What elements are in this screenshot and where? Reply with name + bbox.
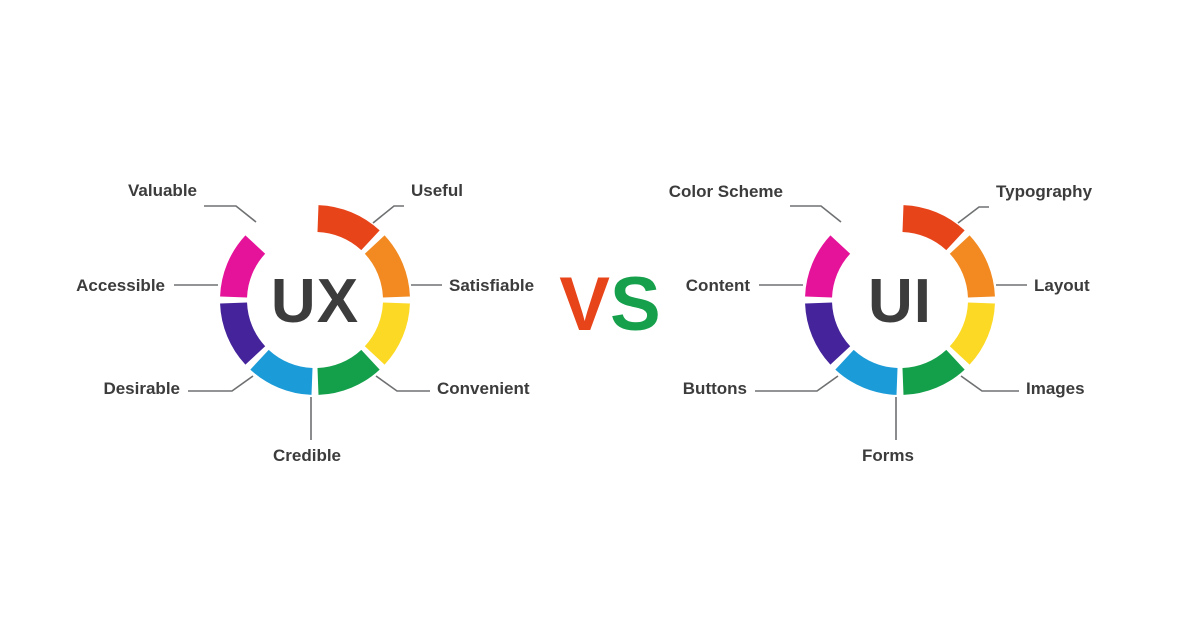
donut-segment-buttons[interactable]: [835, 350, 897, 395]
donut-center-label-ux: UX: [271, 267, 359, 336]
donut-segment-typography[interactable]: [902, 205, 964, 250]
segment-label-forms: Forms: [862, 446, 914, 465]
donut-chart-ux: UsefulSatisfiableConvenientCredibleDesir…: [76, 181, 534, 465]
ux-vs-ui-diagram: UsefulSatisfiableConvenientCredibleDesir…: [0, 0, 1200, 628]
donut-segment-useful[interactable]: [317, 205, 379, 250]
leader-line-desirable: [188, 376, 253, 391]
versus-letter-v: V: [559, 262, 610, 347]
segment-label-images: Images: [1026, 379, 1085, 398]
segment-label-valuable: Valuable: [128, 181, 197, 200]
leader-line-valuable: [204, 206, 256, 222]
segment-label-content: Content: [686, 276, 751, 295]
leader-line-color-scheme: [790, 206, 841, 222]
donut-segment-content[interactable]: [805, 302, 850, 364]
donut-segment-satisfiable[interactable]: [365, 235, 410, 297]
leader-line-typography: [958, 207, 989, 223]
donut-segment-accessible[interactable]: [220, 302, 265, 364]
donut-segment-forms[interactable]: [902, 350, 964, 395]
segment-label-accessible: Accessible: [76, 276, 165, 295]
donut-segment-valuable[interactable]: [220, 235, 265, 297]
segment-label-desirable: Desirable: [103, 379, 180, 398]
donut-segment-color-scheme[interactable]: [805, 235, 850, 297]
donut-segment-layout[interactable]: [950, 235, 995, 297]
versus-text: VS: [559, 262, 660, 347]
segment-label-useful: Useful: [411, 181, 463, 200]
segment-label-color-scheme: Color Scheme: [669, 182, 783, 201]
segment-label-convenient: Convenient: [437, 379, 530, 398]
leader-line-images: [961, 376, 1019, 391]
leader-line-useful: [373, 206, 404, 223]
segment-label-buttons: Buttons: [683, 379, 747, 398]
donut-segment-desirable[interactable]: [250, 350, 312, 395]
segment-label-typography: Typography: [996, 182, 1093, 201]
leader-line-convenient: [376, 376, 430, 391]
donut-segment-credible[interactable]: [317, 350, 379, 395]
infographic-canvas: UsefulSatisfiableConvenientCredibleDesir…: [0, 0, 1200, 628]
segment-label-credible: Credible: [273, 446, 341, 465]
versus-group: VS: [559, 262, 660, 347]
segment-label-layout: Layout: [1034, 276, 1090, 295]
donut-segment-convenient[interactable]: [365, 302, 410, 364]
donut-segment-images[interactable]: [950, 302, 995, 364]
segment-label-satisfiable: Satisfiable: [449, 276, 534, 295]
donut-center-label-ui: UI: [868, 267, 932, 336]
donut-chart-ui: TypographyLayoutImagesFormsButtonsConten…: [669, 182, 1093, 465]
versus-letter-s: S: [610, 262, 661, 347]
leader-line-buttons: [755, 376, 838, 391]
